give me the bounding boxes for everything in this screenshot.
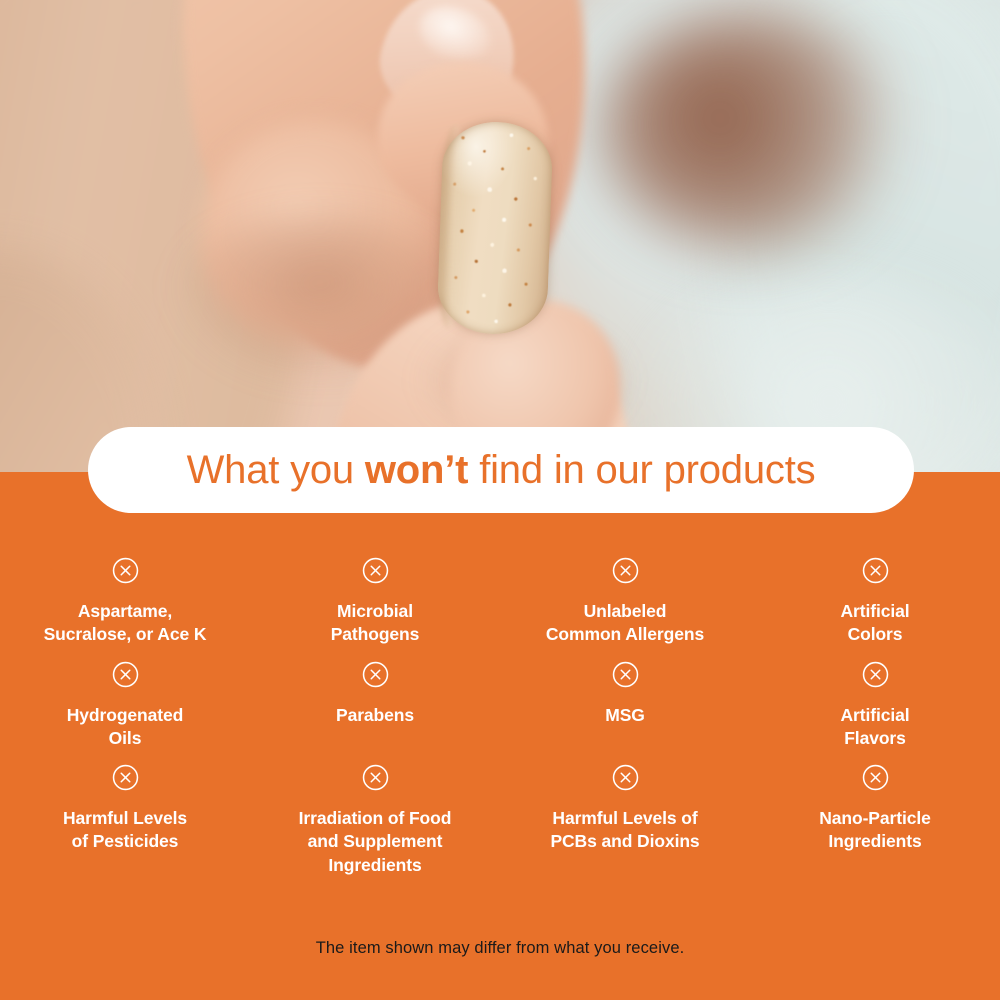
grid-item-label: Parabens — [336, 704, 414, 727]
label-line-1: Parabens — [336, 704, 414, 727]
grid-item-pesticides: Harmful Levels of Pesticides — [0, 750, 250, 877]
background-dark-blob — [600, 10, 900, 250]
grid-item-label: Irradiation of Food and Supplement Ingre… — [299, 807, 452, 877]
grid-item-label: Hydrogenated Oils — [67, 704, 183, 751]
grid-item-allergens: Unlabeled Common Allergens — [500, 543, 750, 647]
label-line-2: of Pesticides — [63, 830, 187, 853]
grid-item-label: MSG — [605, 704, 645, 727]
grid-item-label: Artificial Colors — [840, 600, 909, 647]
tablet-rim-shadow — [436, 120, 553, 336]
label-line-1: Nano-Particle — [819, 807, 931, 830]
circle-x-icon — [612, 661, 639, 688]
circle-x-icon — [112, 764, 139, 791]
circle-x-icon — [362, 764, 389, 791]
tablet-icon — [436, 120, 553, 336]
label-line-2: Flavors — [840, 727, 909, 750]
label-line-1: Irradiation of Food — [299, 807, 452, 830]
circle-x-icon — [112, 661, 139, 688]
label-line-1: MSG — [605, 704, 645, 727]
label-line-1: Microbial — [331, 600, 420, 623]
grid-item-flavors: Artificial Flavors — [750, 647, 1000, 751]
headline-card: What you won’t find in our products — [88, 427, 914, 513]
label-line-1: Aspartame, — [44, 600, 207, 623]
grid-item-hydrogenated: Hydrogenated Oils — [0, 647, 250, 751]
label-line-1: Hydrogenated — [67, 704, 183, 727]
disclaimer-text: The item shown may differ from what you … — [0, 939, 1000, 958]
label-line-2: Colors — [840, 623, 909, 646]
label-line-2: PCBs and Dioxins — [550, 830, 699, 853]
grid-item-parabens: Parabens — [250, 647, 500, 751]
grid-item-pcbs: Harmful Levels of PCBs and Dioxins — [500, 750, 750, 877]
headline-suffix: find in our products — [468, 448, 815, 492]
grid-item-msg: MSG — [500, 647, 750, 751]
excluded-ingredients-grid: Aspartame, Sucralose, or Ace K Microbial… — [0, 543, 1000, 877]
product-claims-infographic: What you won’t find in our products Aspa… — [0, 0, 1000, 1000]
grid-item-colors: Artificial Colors — [750, 543, 1000, 647]
label-line-2: Ingredients — [819, 830, 931, 853]
label-line-2: Sucralose, or Ace K — [44, 623, 207, 646]
grid-item-nanoparticle: Nano-Particle Ingredients — [750, 750, 1000, 877]
circle-x-icon — [112, 557, 139, 584]
label-line-1: Artificial — [840, 704, 909, 727]
circle-x-icon — [612, 764, 639, 791]
headline-prefix: What you — [187, 448, 365, 492]
grid-item-label: Unlabeled Common Allergens — [546, 600, 704, 647]
grid-item-microbial: Microbial Pathogens — [250, 543, 500, 647]
circle-x-icon — [362, 661, 389, 688]
label-line-2: and Supplement — [299, 830, 452, 853]
circle-x-icon — [862, 764, 889, 791]
label-line-2: Common Allergens — [546, 623, 704, 646]
label-line-1: Harmful Levels of — [550, 807, 699, 830]
grid-item-label: Harmful Levels of Pesticides — [63, 807, 187, 854]
grid-item-label: Nano-Particle Ingredients — [819, 807, 931, 854]
grid-item-label: Aspartame, Sucralose, or Ace K — [44, 600, 207, 647]
grid-item-aspartame: Aspartame, Sucralose, or Ace K — [0, 543, 250, 647]
label-line-1: Unlabeled — [546, 600, 704, 623]
label-line-2: Oils — [67, 727, 183, 750]
label-line-2: Pathogens — [331, 623, 420, 646]
label-line-1: Artificial — [840, 600, 909, 623]
grid-item-irradiation: Irradiation of Food and Supplement Ingre… — [250, 750, 500, 877]
circle-x-icon — [612, 557, 639, 584]
page-title: What you won’t find in our products — [187, 450, 816, 490]
grid-item-label: Artificial Flavors — [840, 704, 909, 751]
product-photo — [0, 0, 1000, 474]
circle-x-icon — [862, 661, 889, 688]
grid-item-label: Microbial Pathogens — [331, 600, 420, 647]
headline-emphasis: won’t — [365, 448, 468, 492]
circle-x-icon — [862, 557, 889, 584]
label-line-1: Harmful Levels — [63, 807, 187, 830]
grid-item-label: Harmful Levels of PCBs and Dioxins — [550, 807, 699, 854]
label-line-3: Ingredients — [299, 854, 452, 877]
circle-x-icon — [362, 557, 389, 584]
